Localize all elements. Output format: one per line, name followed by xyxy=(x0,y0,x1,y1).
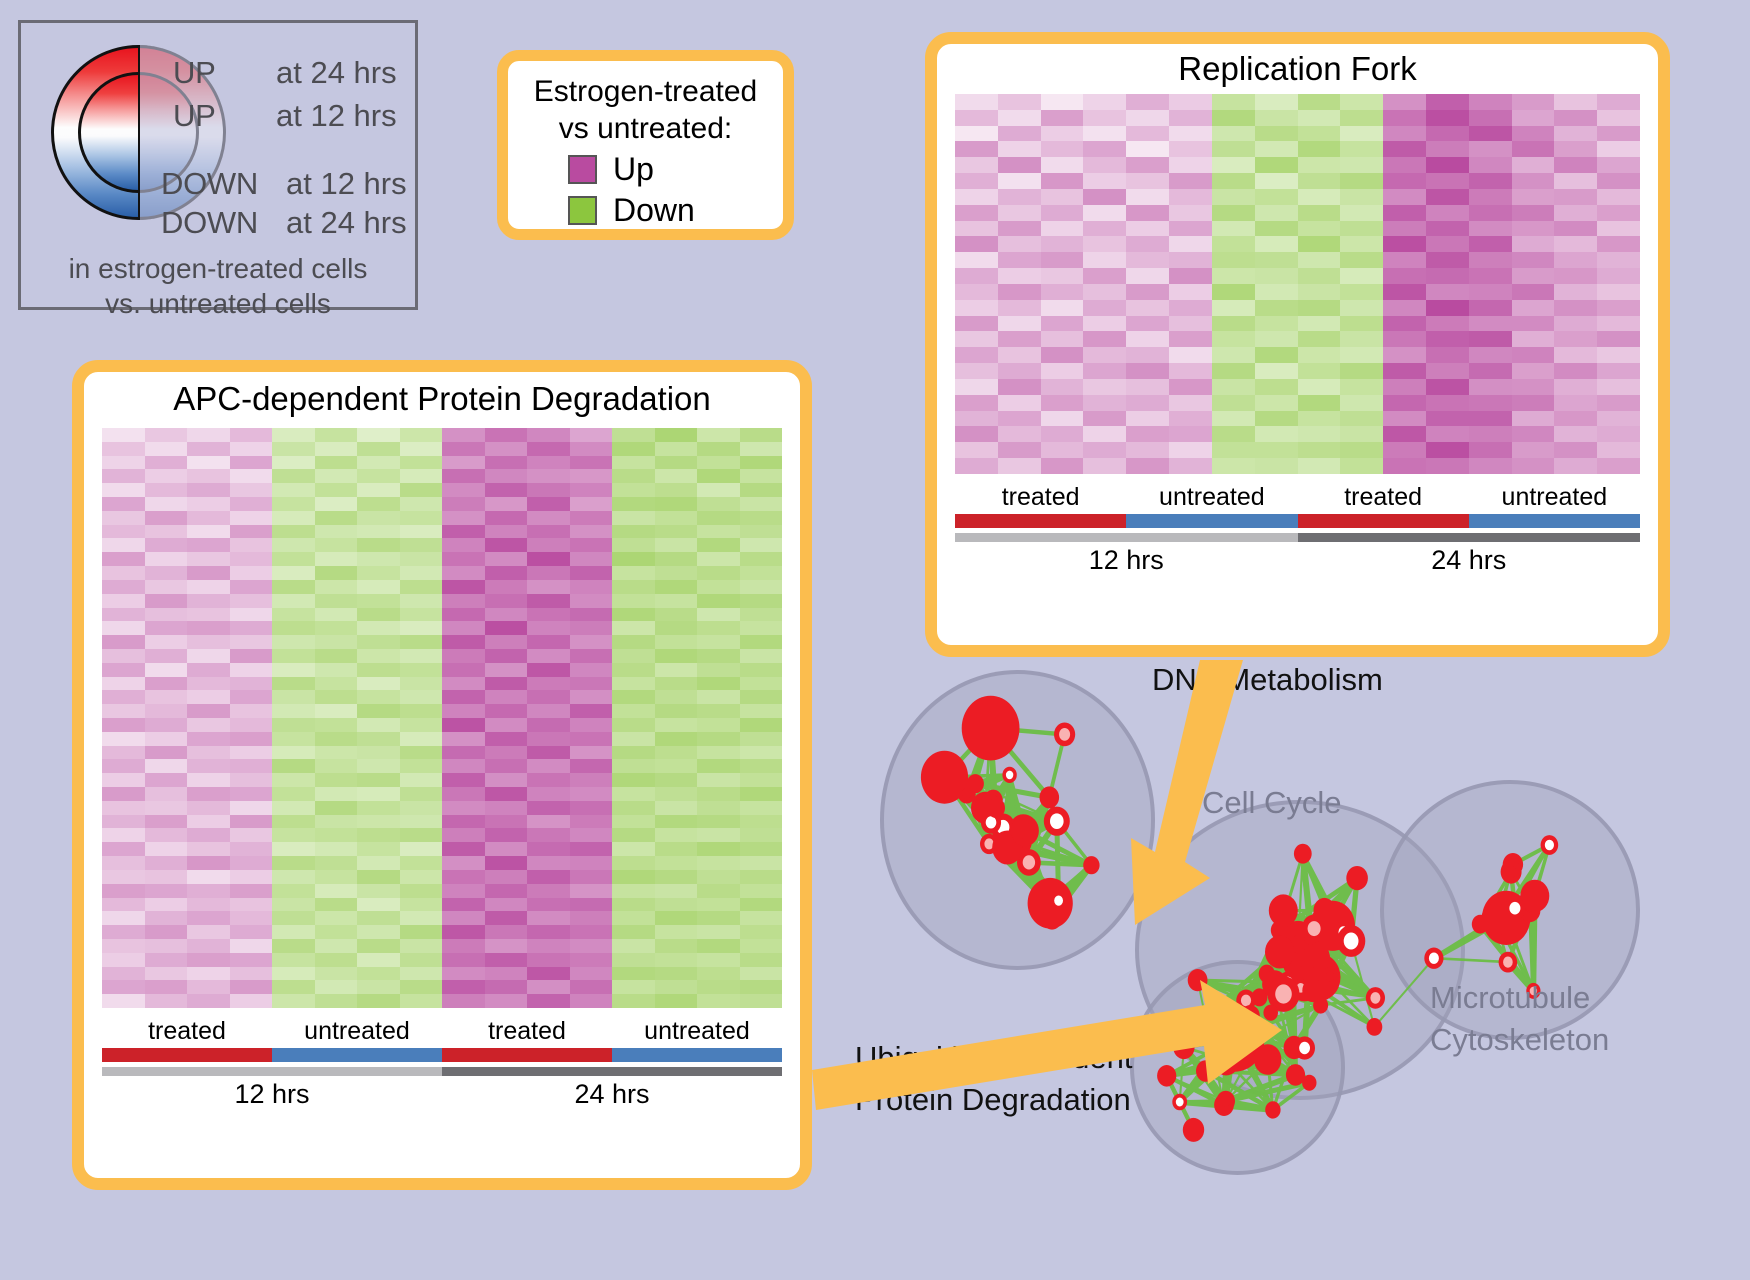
heatmap-cell xyxy=(1212,284,1255,300)
heatmap-cell xyxy=(697,704,740,718)
heatmap-cell xyxy=(485,746,528,760)
heatmap-cell xyxy=(357,828,400,842)
heatmap-cell xyxy=(187,870,230,884)
heatmap-cell xyxy=(1083,458,1126,474)
heatmap-cell xyxy=(187,773,230,787)
heatmap-cell xyxy=(187,898,230,912)
heatmap-cell xyxy=(740,911,783,925)
heatmap-cell xyxy=(1041,300,1084,316)
heatmap-cell xyxy=(400,732,443,746)
heatmap-cell xyxy=(230,967,273,981)
heatmap-cell xyxy=(272,746,315,760)
heatmap-cell xyxy=(400,566,443,580)
heatmap-cell xyxy=(1041,157,1084,173)
heatmap-cell xyxy=(655,497,698,511)
heatmap-cell xyxy=(1126,268,1169,284)
heatmap-cell xyxy=(187,566,230,580)
heatmap-cell xyxy=(485,497,528,511)
heatmap-cell xyxy=(145,967,188,981)
heatmap-cell xyxy=(612,704,655,718)
heatmap-cell xyxy=(1512,316,1555,332)
heatmap-cell xyxy=(1169,157,1212,173)
heatmap-cell xyxy=(740,746,783,760)
heatmap-cell xyxy=(697,442,740,456)
heatmap-cell xyxy=(1597,221,1640,237)
heatmap-cell xyxy=(400,649,443,663)
heatmap-cell xyxy=(655,469,698,483)
heatmap-cell xyxy=(442,856,485,870)
heatmap-cell xyxy=(955,126,998,142)
heatmap-cell xyxy=(1255,189,1298,205)
heatmap-cell xyxy=(1597,189,1640,205)
heatmap-cell xyxy=(485,759,528,773)
heatmap-cell xyxy=(1554,252,1597,268)
heatmap-cell xyxy=(570,538,613,552)
heatmap-cell xyxy=(272,856,315,870)
rf-bar-treated-24 xyxy=(1298,514,1469,528)
heatmap-cell xyxy=(655,953,698,967)
heatmap-cell xyxy=(740,566,783,580)
heatmap-cell xyxy=(1512,221,1555,237)
heatmap-cell xyxy=(485,939,528,953)
heatmap-cell xyxy=(357,994,400,1008)
heatmap-cell xyxy=(1383,411,1426,427)
heatmap-cell xyxy=(527,801,570,815)
heatmap-cell xyxy=(1512,157,1555,173)
heatmap-cell xyxy=(697,566,740,580)
heatmap-cell xyxy=(1212,221,1255,237)
heatmap-cell xyxy=(1255,379,1298,395)
heatmap-cell xyxy=(697,635,740,649)
heatmap-cell xyxy=(612,580,655,594)
heatmap-cell xyxy=(612,663,655,677)
heatmap-cell xyxy=(442,635,485,649)
heatmap-cell xyxy=(145,704,188,718)
heatmap-cell xyxy=(145,759,188,773)
heatmap-cell xyxy=(485,718,528,732)
heatmap-cell xyxy=(400,621,443,635)
heatmap-cell xyxy=(1383,157,1426,173)
heatmap-cell xyxy=(1340,458,1383,474)
heatmap-cell xyxy=(187,469,230,483)
label-ubiquitin-1: Ubiquitin-dependent xyxy=(855,1040,1133,1076)
down-color-swatch xyxy=(568,196,597,225)
heatmap-cell xyxy=(1340,411,1383,427)
heatmap-cell xyxy=(612,856,655,870)
heatmap-cell xyxy=(612,456,655,470)
heatmap-cell xyxy=(612,911,655,925)
heatmap-cell xyxy=(400,608,443,622)
heatmap-cell xyxy=(955,331,998,347)
heatmap-cell xyxy=(442,497,485,511)
heatmap-cell xyxy=(187,980,230,994)
heatmap-cell xyxy=(740,580,783,594)
heatmap-cell xyxy=(1041,110,1084,126)
heatmap-cell xyxy=(230,649,273,663)
heatmap-cell xyxy=(740,483,783,497)
heatmap-cell xyxy=(145,898,188,912)
heatmap-cell xyxy=(1512,236,1555,252)
heatmap-cell xyxy=(442,525,485,539)
apc-group-labels: treated untreated treated untreated xyxy=(102,1017,782,1046)
heatmap-cell xyxy=(570,663,613,677)
heatmap-cell xyxy=(612,801,655,815)
heatmap-cell xyxy=(1041,395,1084,411)
heatmap-cell xyxy=(955,458,998,474)
heatmap-cell xyxy=(527,898,570,912)
heatmap-cell xyxy=(230,718,273,732)
heatmap-cell xyxy=(1340,395,1383,411)
heatmap-cell xyxy=(1554,442,1597,458)
heatmap-cell xyxy=(187,497,230,511)
heatmap-cell xyxy=(1298,173,1341,189)
heatmap-cell xyxy=(230,939,273,953)
heatmap-cell xyxy=(612,594,655,608)
cluster-dna-metabolism xyxy=(880,670,1155,970)
apc-timepoint-color-bars xyxy=(102,1067,782,1076)
heatmap-cell xyxy=(1212,189,1255,205)
heatmap-cell xyxy=(230,442,273,456)
heatmap-cell xyxy=(145,746,188,760)
heatmap-cell xyxy=(145,456,188,470)
heatmap-cell xyxy=(570,621,613,635)
heatmap-cell xyxy=(527,428,570,442)
heatmap-cell xyxy=(102,428,145,442)
heatmap-cell xyxy=(740,856,783,870)
heatmap-cell xyxy=(1255,411,1298,427)
heatmap-cell xyxy=(570,456,613,470)
heatmap-cell xyxy=(1298,236,1341,252)
heatmap-cell xyxy=(612,870,655,884)
heatmap-cell xyxy=(485,469,528,483)
heatmap-cell xyxy=(697,967,740,981)
heatmap-cell xyxy=(740,884,783,898)
heatmap-cell xyxy=(230,759,273,773)
heatmap-cell xyxy=(145,677,188,691)
heatmap-cell xyxy=(315,594,358,608)
heatmap-cell xyxy=(527,746,570,760)
heatmap-cell xyxy=(612,525,655,539)
heatmap-cell xyxy=(1426,221,1469,237)
heatmap-cell xyxy=(527,690,570,704)
heatmap-cell xyxy=(442,608,485,622)
heatmap-cell xyxy=(1041,189,1084,205)
heatmap-cell xyxy=(697,594,740,608)
heatmap-cell xyxy=(570,732,613,746)
heatmap-cell xyxy=(1340,252,1383,268)
heatmap-cell xyxy=(1383,205,1426,221)
heatmap-cell xyxy=(655,773,698,787)
heatmap-cell xyxy=(1554,268,1597,284)
heatmap-cell xyxy=(230,566,273,580)
heatmap-cell xyxy=(102,953,145,967)
heatmap-cell xyxy=(272,925,315,939)
updown-legend-header: Estrogen-treated vs untreated: xyxy=(508,61,783,147)
heatmap-cell xyxy=(1597,157,1640,173)
heatmap-cell xyxy=(442,511,485,525)
heatmap-cell xyxy=(357,511,400,525)
heatmap-cell xyxy=(955,236,998,252)
heatmap-cell xyxy=(1340,141,1383,157)
heatmap-cell xyxy=(1255,395,1298,411)
heatmap-cell xyxy=(145,552,188,566)
heatmap-cell xyxy=(697,994,740,1008)
heatmap-cell xyxy=(1298,331,1341,347)
ring-vertical-divider xyxy=(138,45,140,220)
heatmap-cell xyxy=(272,994,315,1008)
apc-timebar-24 xyxy=(442,1067,782,1076)
heatmap-cell xyxy=(1298,110,1341,126)
heatmap-cell xyxy=(1469,284,1512,300)
heatmap-cell xyxy=(315,483,358,497)
heatmap-cell xyxy=(1083,426,1126,442)
heatmap-cell xyxy=(485,580,528,594)
heatmap-cell xyxy=(400,483,443,497)
heatmap-cell xyxy=(1083,347,1126,363)
heatmap-cell xyxy=(1597,126,1640,142)
heatmap-cell xyxy=(955,411,998,427)
heatmap-cell xyxy=(1126,411,1169,427)
heatmap-cell xyxy=(570,649,613,663)
heatmap-cell xyxy=(955,157,998,173)
heatmap-cell xyxy=(145,621,188,635)
heatmap-cell xyxy=(1298,126,1341,142)
heatmap-cell xyxy=(400,884,443,898)
heatmap-cell xyxy=(697,759,740,773)
heatmap-cell xyxy=(272,621,315,635)
heatmap-cell xyxy=(570,594,613,608)
heatmap-cell xyxy=(655,967,698,981)
heatmap-cell xyxy=(1340,331,1383,347)
rf-bar-untreated-24 xyxy=(1469,514,1640,528)
heatmap-cell xyxy=(400,497,443,511)
rf-bar-untreated-12 xyxy=(1126,514,1297,528)
heatmap-cell xyxy=(740,649,783,663)
heatmap-cell xyxy=(102,718,145,732)
heatmap-cell xyxy=(697,677,740,691)
heatmap-cell xyxy=(1426,205,1469,221)
heatmap-cell xyxy=(655,856,698,870)
heatmap-cell xyxy=(1426,300,1469,316)
heatmap-cell xyxy=(272,704,315,718)
heatmap-cell xyxy=(1169,363,1212,379)
heatmap-cell xyxy=(1597,458,1640,474)
heatmap-cell xyxy=(998,205,1041,221)
heatmap-cell xyxy=(485,483,528,497)
heatmap-cell xyxy=(655,718,698,732)
heatmap-cell xyxy=(102,566,145,580)
heatmap-cell xyxy=(400,801,443,815)
heatmap-cell xyxy=(357,580,400,594)
apc-group-3: untreated xyxy=(612,1017,782,1046)
heatmap-cell xyxy=(1512,268,1555,284)
heatmap-cell xyxy=(1255,205,1298,221)
heatmap-cell xyxy=(612,483,655,497)
legend-item-down: Down xyxy=(568,192,783,229)
heatmap-cell xyxy=(485,911,528,925)
heatmap-cell xyxy=(1041,268,1084,284)
heatmap-cell xyxy=(1169,189,1212,205)
heatmap-cell xyxy=(655,525,698,539)
heatmap-cell xyxy=(272,442,315,456)
heatmap-cell xyxy=(1169,411,1212,427)
heatmap-cell xyxy=(998,411,1041,427)
heatmap-cell xyxy=(527,718,570,732)
heatmap-cell xyxy=(1426,395,1469,411)
heatmap-cell xyxy=(357,428,400,442)
heatmap-cell xyxy=(1383,426,1426,442)
heatmap-cell xyxy=(1554,300,1597,316)
heatmap-cell xyxy=(230,677,273,691)
heatmap-cell xyxy=(1469,347,1512,363)
heatmap-cell xyxy=(1169,268,1212,284)
heatmap-cell xyxy=(740,732,783,746)
heatmap-cell xyxy=(1041,347,1084,363)
heatmap-cell xyxy=(655,939,698,953)
heatmap-cell xyxy=(612,552,655,566)
pathway-network-diagram: DNA Metabolism Cell Cycle Microtubule Cy… xyxy=(880,640,1740,1280)
heatmap-cell xyxy=(612,442,655,456)
heatmap-cell xyxy=(1469,252,1512,268)
heatmap-cell xyxy=(357,773,400,787)
rf-group-color-bars xyxy=(955,514,1640,528)
heatmap-cell xyxy=(1083,173,1126,189)
apc-group-color-bars xyxy=(102,1048,782,1062)
heatmap-cell xyxy=(1169,236,1212,252)
heatmap-cell xyxy=(485,773,528,787)
heatmap-cell xyxy=(1340,173,1383,189)
heatmap-cell xyxy=(1083,94,1126,110)
heatmap-cell xyxy=(1169,442,1212,458)
heatmap-cell xyxy=(1426,157,1469,173)
heatmap-cell xyxy=(527,552,570,566)
heatmap-cell xyxy=(955,316,998,332)
heatmap-cell xyxy=(442,732,485,746)
apc-bar-untreated-12 xyxy=(272,1048,442,1062)
heatmap-cell xyxy=(400,967,443,981)
heatmap-cell xyxy=(230,856,273,870)
rf-group-3: untreated xyxy=(1469,483,1640,512)
heatmap-cell xyxy=(485,635,528,649)
up-color-swatch xyxy=(568,155,597,184)
heatmap-cell xyxy=(998,395,1041,411)
heatmap-cell xyxy=(485,842,528,856)
heatmap-cell xyxy=(570,828,613,842)
heatmap-cell xyxy=(1212,126,1255,142)
heatmap-cell xyxy=(1169,252,1212,268)
heatmap-cell xyxy=(570,842,613,856)
heatmap-cell xyxy=(612,497,655,511)
heatmap-cell xyxy=(315,690,358,704)
heatmap-cell xyxy=(570,428,613,442)
heatmap-cell xyxy=(1126,458,1169,474)
heatmap-cell xyxy=(570,690,613,704)
heatmap-cell xyxy=(1512,300,1555,316)
heatmap-cell xyxy=(230,511,273,525)
heatmap-cell xyxy=(400,759,443,773)
heatmap-cell xyxy=(570,870,613,884)
heatmap-cell xyxy=(442,815,485,829)
heatmap-cell xyxy=(272,511,315,525)
heatmap-cell xyxy=(697,801,740,815)
heatmap-cell xyxy=(485,870,528,884)
heatmap-cell xyxy=(1126,363,1169,379)
apc-heatmap xyxy=(102,428,782,1008)
heatmap-cell xyxy=(1554,236,1597,252)
heatmap-cell xyxy=(485,884,528,898)
heatmap-cell xyxy=(1041,252,1084,268)
legend-item-up: Up xyxy=(568,151,783,188)
heatmap-cell xyxy=(527,953,570,967)
rf-group-1: untreated xyxy=(1126,483,1297,512)
heatmap-cell xyxy=(187,967,230,981)
heatmap-cell xyxy=(442,787,485,801)
heatmap-cell xyxy=(612,980,655,994)
heatmap-cell xyxy=(187,456,230,470)
heatmap-cell xyxy=(1554,426,1597,442)
heatmap-cell xyxy=(272,842,315,856)
heatmap-cell xyxy=(655,787,698,801)
heatmap-cell xyxy=(1255,363,1298,379)
heatmap-cell xyxy=(1298,363,1341,379)
heatmap-cell xyxy=(400,511,443,525)
heatmap-cell xyxy=(187,704,230,718)
heatmap-cell xyxy=(442,442,485,456)
heatmap-cell xyxy=(740,497,783,511)
heatmap-cell xyxy=(527,649,570,663)
heatmap-cell xyxy=(102,870,145,884)
heatmap-cell xyxy=(612,773,655,787)
heatmap-cell xyxy=(230,635,273,649)
heatmap-cell xyxy=(187,552,230,566)
heatmap-cell xyxy=(655,732,698,746)
heatmap-cell xyxy=(230,690,273,704)
heatmap-cell xyxy=(612,815,655,829)
heatmap-cell xyxy=(955,426,998,442)
heatmap-cell xyxy=(1426,363,1469,379)
heatmap-cell xyxy=(1426,268,1469,284)
heatmap-cell xyxy=(1298,157,1341,173)
heatmap-cell xyxy=(1298,347,1341,363)
heatmap-cell xyxy=(1169,205,1212,221)
heatmap-cell xyxy=(612,898,655,912)
heatmap-cell xyxy=(612,746,655,760)
heatmap-cell xyxy=(357,608,400,622)
heatmap-cell xyxy=(1212,442,1255,458)
heatmap-cell xyxy=(655,442,698,456)
heatmap-cell xyxy=(1126,173,1169,189)
heatmap-cell xyxy=(998,300,1041,316)
heatmap-cell xyxy=(230,884,273,898)
heatmap-cell xyxy=(1554,189,1597,205)
heatmap-cell xyxy=(230,469,273,483)
heatmap-cell xyxy=(187,732,230,746)
heatmap-cell xyxy=(1597,331,1640,347)
heatmap-cell xyxy=(697,690,740,704)
heatmap-cell xyxy=(527,967,570,981)
heatmap-cell xyxy=(697,842,740,856)
heatmap-cell xyxy=(400,525,443,539)
heatmap-cell xyxy=(102,552,145,566)
heatmap-cell xyxy=(1298,442,1341,458)
heatmap-cell xyxy=(230,801,273,815)
heatmap-cell xyxy=(442,842,485,856)
heatmap-cell xyxy=(230,663,273,677)
heatmap-cell xyxy=(1212,426,1255,442)
heatmap-cell xyxy=(1083,236,1126,252)
heatmap-cell xyxy=(1041,411,1084,427)
heatmap-cell xyxy=(442,870,485,884)
